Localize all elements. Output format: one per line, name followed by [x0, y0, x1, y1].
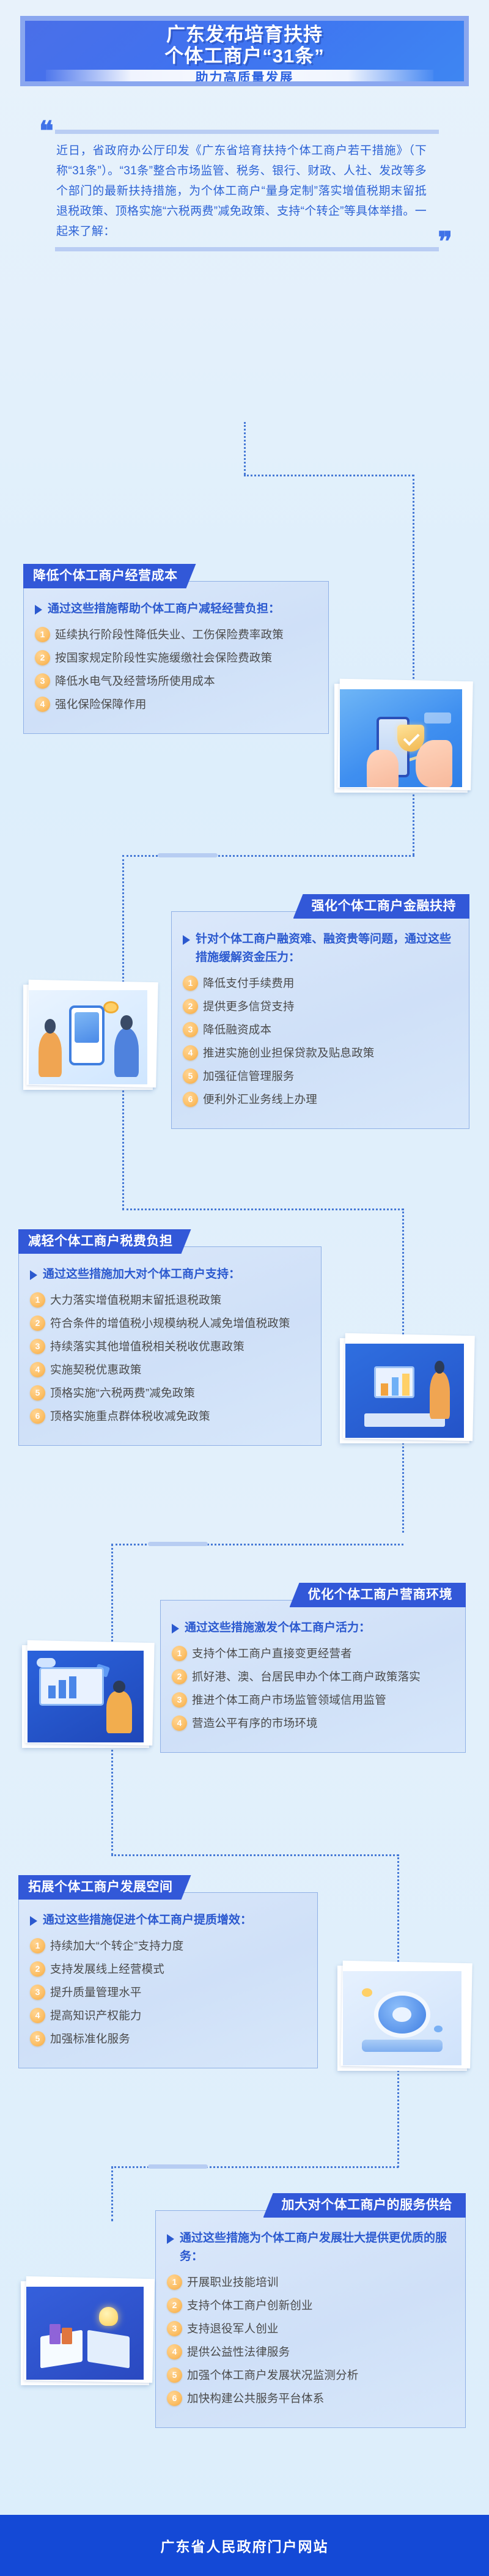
- list-item: 3提升质量管理水平: [30, 1983, 304, 2001]
- list-item-text: 开展职业技能培训: [187, 2273, 279, 2291]
- section-2-lead: 针对个体工商户融资难、融资贵等问题，通过这些措施缓解资金压力：: [196, 930, 455, 967]
- section-4-lead-row: 通过这些措施激发个体工商户活力：: [172, 1619, 452, 1637]
- section-3-title: 减轻个体工商户税费负担: [18, 1229, 191, 1254]
- header-banner: 广东发布培育扶持 个体工商户“31条” 助力高质量发展: [20, 16, 469, 86]
- list-number: 3: [167, 2321, 182, 2336]
- list-item: 6便利外汇业务线上办理: [183, 1090, 455, 1108]
- section-1-body: 通过这些措施帮助个体工商户减轻经营负担： 1延续执行阶段性降低失业、工伤保险费率…: [23, 581, 329, 734]
- connector-seg-6: [122, 1208, 403, 1210]
- triangle-bullet-icon: [30, 1270, 37, 1280]
- list-item: 1支持个体工商户直接变更经营者: [172, 1645, 452, 1662]
- quote-close-icon: ❞: [438, 233, 452, 251]
- list-item-text: 持续落实其他增值税相关税收优惠政策: [50, 1338, 244, 1355]
- list-item: 6顶格实施重点群体税收减免政策: [30, 1407, 307, 1425]
- section-1-lead-row: 通过这些措施帮助个体工商户减轻经营负担：: [35, 600, 315, 618]
- list-item-text: 顶格实施“六税两费”减免政策: [50, 1384, 195, 1402]
- list-item-text: 提供更多信贷支持: [203, 997, 295, 1015]
- illustration-book-idea: [26, 2287, 144, 2380]
- list-item: 3降低融资成本: [183, 1021, 455, 1038]
- list-item: 1延续执行阶段性降低失业、工伤保险费率政策: [35, 626, 315, 643]
- page-subtitle: 助力高质量发展: [25, 70, 464, 81]
- section-4-body: 通过这些措施激发个体工商户活力： 1支持个体工商户直接变更经营者 2抓好港、澳、…: [160, 1600, 466, 1753]
- triangle-bullet-icon: [167, 2234, 174, 2244]
- quote-open-icon: ❝: [39, 122, 54, 141]
- section-6-body: 通过这些措施为个体工商户发展壮大提供更优质的服务： 1开展职业技能培训 2支持个…: [155, 2210, 466, 2428]
- header-inner: 广东发布培育扶持 个体工商户“31条” 助力高质量发展: [25, 21, 464, 81]
- list-item-text: 加强标准化服务: [50, 2030, 130, 2048]
- section-4-title: 优化个体工商户营商环境: [290, 1583, 466, 1607]
- list-item: 4提供公益性法律服务: [167, 2343, 452, 2361]
- list-item: 4营造公平有序的市场环境: [172, 1714, 452, 1732]
- list-item: 3支持退役军人创业: [167, 2320, 452, 2337]
- triangle-bullet-icon: [30, 1916, 37, 1926]
- list-item-text: 延续执行阶段性降低失业、工伤保险费率政策: [55, 626, 284, 643]
- list-number: 2: [172, 1669, 187, 1684]
- list-number: 4: [30, 1362, 45, 1377]
- list-number: 1: [30, 1292, 45, 1308]
- list-item-text: 实施契税优惠政策: [50, 1361, 142, 1379]
- list-item: 5加强标准化服务: [30, 2030, 304, 2048]
- list-number: 5: [183, 1068, 198, 1084]
- triangle-bullet-icon: [183, 935, 190, 945]
- list-number: 1: [30, 1938, 45, 1953]
- list-item: 4推进实施创业担保贷款及贴息政策: [183, 1044, 455, 1062]
- connector-accent-2: [148, 1542, 208, 1546]
- illustration-5-frame: [337, 1966, 467, 2071]
- section-5-title: 拓展个体工商户发展空间: [18, 1875, 191, 1900]
- list-item-text: 提供公益性法律服务: [187, 2343, 290, 2361]
- section-2-lead-row: 针对个体工商户融资难、融资贵等问题，通过这些措施缓解资金压力：: [183, 930, 455, 967]
- section-5-lead-row: 通过这些措施促进个体工商户提质增效：: [30, 1911, 304, 1930]
- list-item: 2符合条件的增值税小规模纳税人减免增值税政策: [30, 1314, 307, 1332]
- list-number: 2: [35, 650, 50, 665]
- section-6-title: 加大对个体工商户的服务供给: [263, 2193, 466, 2218]
- list-number: 5: [30, 2031, 45, 2046]
- list-number: 4: [172, 1715, 187, 1731]
- list-item: 1降低支付手续费用: [183, 974, 455, 992]
- illustration-mobile-finance: [29, 990, 147, 1084]
- list-item-text: 降低支付手续费用: [203, 974, 295, 992]
- list-number: 3: [30, 1339, 45, 1354]
- list-number: 3: [30, 1985, 45, 2000]
- connector-seg-1: [244, 422, 246, 475]
- footer-bar: 广东省人民政府门户网站: [0, 2515, 489, 2576]
- list-number: 2: [30, 1316, 45, 1331]
- list-item: 1持续加大“个转企”支持力度: [30, 1937, 304, 1955]
- connector-seg-13: [111, 2166, 113, 2221]
- list-item: 1开展职业技能培训: [167, 2273, 452, 2291]
- list-item: 2抓好港、澳、台居民申办个体工商户政策落实: [172, 1668, 452, 1686]
- list-item: 4强化保险保障作用: [35, 695, 315, 713]
- illustration-phone-shield: [340, 689, 462, 787]
- list-item: 2按国家规定阶段性实施缓缴社会保险费政策: [35, 649, 315, 667]
- list-item-text: 大力落实增值税期末留抵退税政策: [50, 1291, 222, 1309]
- section-6-lead-row: 通过这些措施为个体工商户发展壮大提供更优质的服务：: [167, 2229, 452, 2266]
- list-number: 5: [167, 2367, 182, 2383]
- list-item: 4实施契税优惠政策: [30, 1361, 307, 1379]
- list-number: 4: [35, 697, 50, 712]
- list-item-text: 持续加大“个转企”支持力度: [50, 1937, 183, 1955]
- list-item: 2支持发展线上经营模式: [30, 1960, 304, 1978]
- list-item-text: 降低融资成本: [203, 1021, 271, 1038]
- list-number: 4: [183, 1045, 198, 1060]
- list-item: 2提供更多信贷支持: [183, 997, 455, 1015]
- list-item-text: 按国家规定阶段性实施缓缴社会保险费政策: [55, 649, 272, 667]
- list-item-text: 支持退役军人创业: [187, 2320, 279, 2337]
- illustration-business-dashboard: [28, 1651, 144, 1742]
- quote-rule-top: [55, 130, 439, 134]
- list-item-text: 提升质量管理水平: [50, 1983, 142, 2001]
- section-2-title: 强化个体工商户金融扶持: [293, 894, 470, 919]
- list-number: 1: [172, 1646, 187, 1661]
- list-item: 5加强征信管理服务: [183, 1067, 455, 1085]
- illustration-tax-desk: [345, 1344, 464, 1438]
- list-number: 3: [35, 673, 50, 689]
- list-item-text: 强化保险保障作用: [55, 695, 147, 713]
- list-item-text: 加强个体工商户发展状况监测分析: [187, 2366, 359, 2384]
- list-item-text: 提高知识产权能力: [50, 2007, 142, 2024]
- section-5-body: 通过这些措施促进个体工商户提质增效： 1持续加大“个转企”支持力度 2支持发展线…: [18, 1892, 318, 2068]
- list-item: 3推进个体工商户市场监管领域信用监管: [172, 1691, 452, 1709]
- list-item: 6加快构建公共服务平台体系: [167, 2389, 452, 2407]
- list-item-text: 降低水电气及经营场所使用成本: [55, 672, 215, 690]
- connector-seg-2: [244, 475, 414, 476]
- page-title-line2: 个体工商户“31条”: [25, 45, 464, 67]
- section-3-lead-row: 通过这些措施加大对个体工商户支持：: [30, 1265, 307, 1284]
- illustration-6-frame: [21, 2281, 149, 2385]
- section-3-body: 通过这些措施加大对个体工商户支持： 1大力落实增值税期末留抵退税政策 2符合条件…: [18, 1246, 322, 1446]
- list-number: 2: [167, 2298, 182, 2313]
- section-1-lead: 通过这些措施帮助个体工商户减轻经营负担：: [48, 600, 280, 618]
- list-item: 1大力落实增值税期末留抵退税政策: [30, 1291, 307, 1309]
- section-4-lead: 通过这些措施激发个体工商户活力：: [185, 1619, 370, 1637]
- list-item: 5顶格实施“六税两费”减免政策: [30, 1384, 307, 1402]
- triangle-bullet-icon: [35, 605, 42, 615]
- list-item-text: 顶格实施重点群体税收减免政策: [50, 1407, 210, 1425]
- illustration-3-frame: [340, 1338, 469, 1443]
- illustration-2-frame: [23, 985, 153, 1090]
- connector-seg-10: [111, 1854, 399, 1856]
- section-1-title: 降低个体工商户经营成本: [23, 564, 196, 588]
- page-title-line1: 广东发布培育扶持: [25, 24, 464, 46]
- list-number: 6: [183, 1092, 198, 1107]
- list-number: 4: [167, 2344, 182, 2359]
- list-number: 3: [183, 1022, 198, 1037]
- list-item-text: 抓好港、澳、台居民申办个体工商户政策落实: [192, 1668, 421, 1686]
- intro-paragraph: 近日，省政府办公厅印发《广东省培育扶持个体工商户若干措施》（下称“31条”）。“…: [56, 141, 427, 253]
- connector-seg-3: [413, 475, 414, 855]
- list-item: 2支持个体工商户创新创业: [167, 2297, 452, 2314]
- list-item-text: 支持个体工商户创新创业: [187, 2297, 313, 2314]
- section-2-body: 针对个体工商户融资难、融资贵等问题，通过这些措施缓解资金压力： 1降低支付手续费…: [171, 911, 469, 1129]
- list-item-text: 支持个体工商户直接变更经营者: [192, 1645, 352, 1662]
- footer-label: 广东省人民政府门户网站: [161, 2535, 329, 2556]
- list-number: 3: [172, 1692, 187, 1708]
- section-5-lead: 通过这些措施促进个体工商户提质增效：: [43, 1911, 252, 1930]
- list-number: 1: [35, 627, 50, 642]
- illustration-4-frame: [22, 1645, 149, 1748]
- triangle-bullet-icon: [172, 1624, 179, 1634]
- list-item-text: 加强征信管理服务: [203, 1067, 295, 1085]
- illustration-gear-service: [343, 1971, 461, 2065]
- list-number: 2: [183, 999, 198, 1014]
- list-item: 3降低水电气及经营场所使用成本: [35, 672, 315, 690]
- list-item-text: 便利外汇业务线上办理: [203, 1090, 317, 1108]
- list-item: 3持续落实其他增值税相关税收优惠政策: [30, 1338, 307, 1355]
- list-item: 4提高知识产权能力: [30, 2007, 304, 2024]
- illustration-1-frame: [334, 684, 468, 793]
- list-number: 6: [30, 1408, 45, 1424]
- list-item-text: 推进实施创业担保贷款及贴息政策: [203, 1044, 375, 1062]
- list-item-text: 营造公平有序的市场环境: [192, 1714, 318, 1732]
- list-item-text: 符合条件的增值税小规模纳税人减免增值税政策: [50, 1314, 290, 1332]
- connector-accent-3: [148, 2164, 208, 2169]
- list-number: 1: [167, 2274, 182, 2290]
- list-item: 5加强个体工商户发展状况监测分析: [167, 2366, 452, 2384]
- section-3-lead: 通过这些措施加大对个体工商户支持：: [43, 1265, 240, 1284]
- intro-quote-block: ❝ 近日，省政府办公厅印发《广东省培育扶持个体工商户若干措施》（下称“31条”）…: [40, 122, 449, 253]
- list-number: 2: [30, 1961, 45, 1977]
- list-number: 1: [183, 975, 198, 991]
- list-number: 6: [167, 2391, 182, 2406]
- list-number: 4: [30, 2008, 45, 2023]
- list-item-text: 支持发展线上经营模式: [50, 1960, 164, 1978]
- list-item-text: 推进个体工商户市场监管领域信用监管: [192, 1691, 386, 1709]
- list-item-text: 加快构建公共服务平台体系: [187, 2389, 324, 2407]
- list-number: 5: [30, 1385, 45, 1401]
- connector-accent-1: [158, 853, 218, 857]
- quote-rule-bottom: [55, 247, 439, 251]
- section-6-lead: 通过这些措施为个体工商户发展壮大提供更优质的服务：: [180, 2229, 452, 2266]
